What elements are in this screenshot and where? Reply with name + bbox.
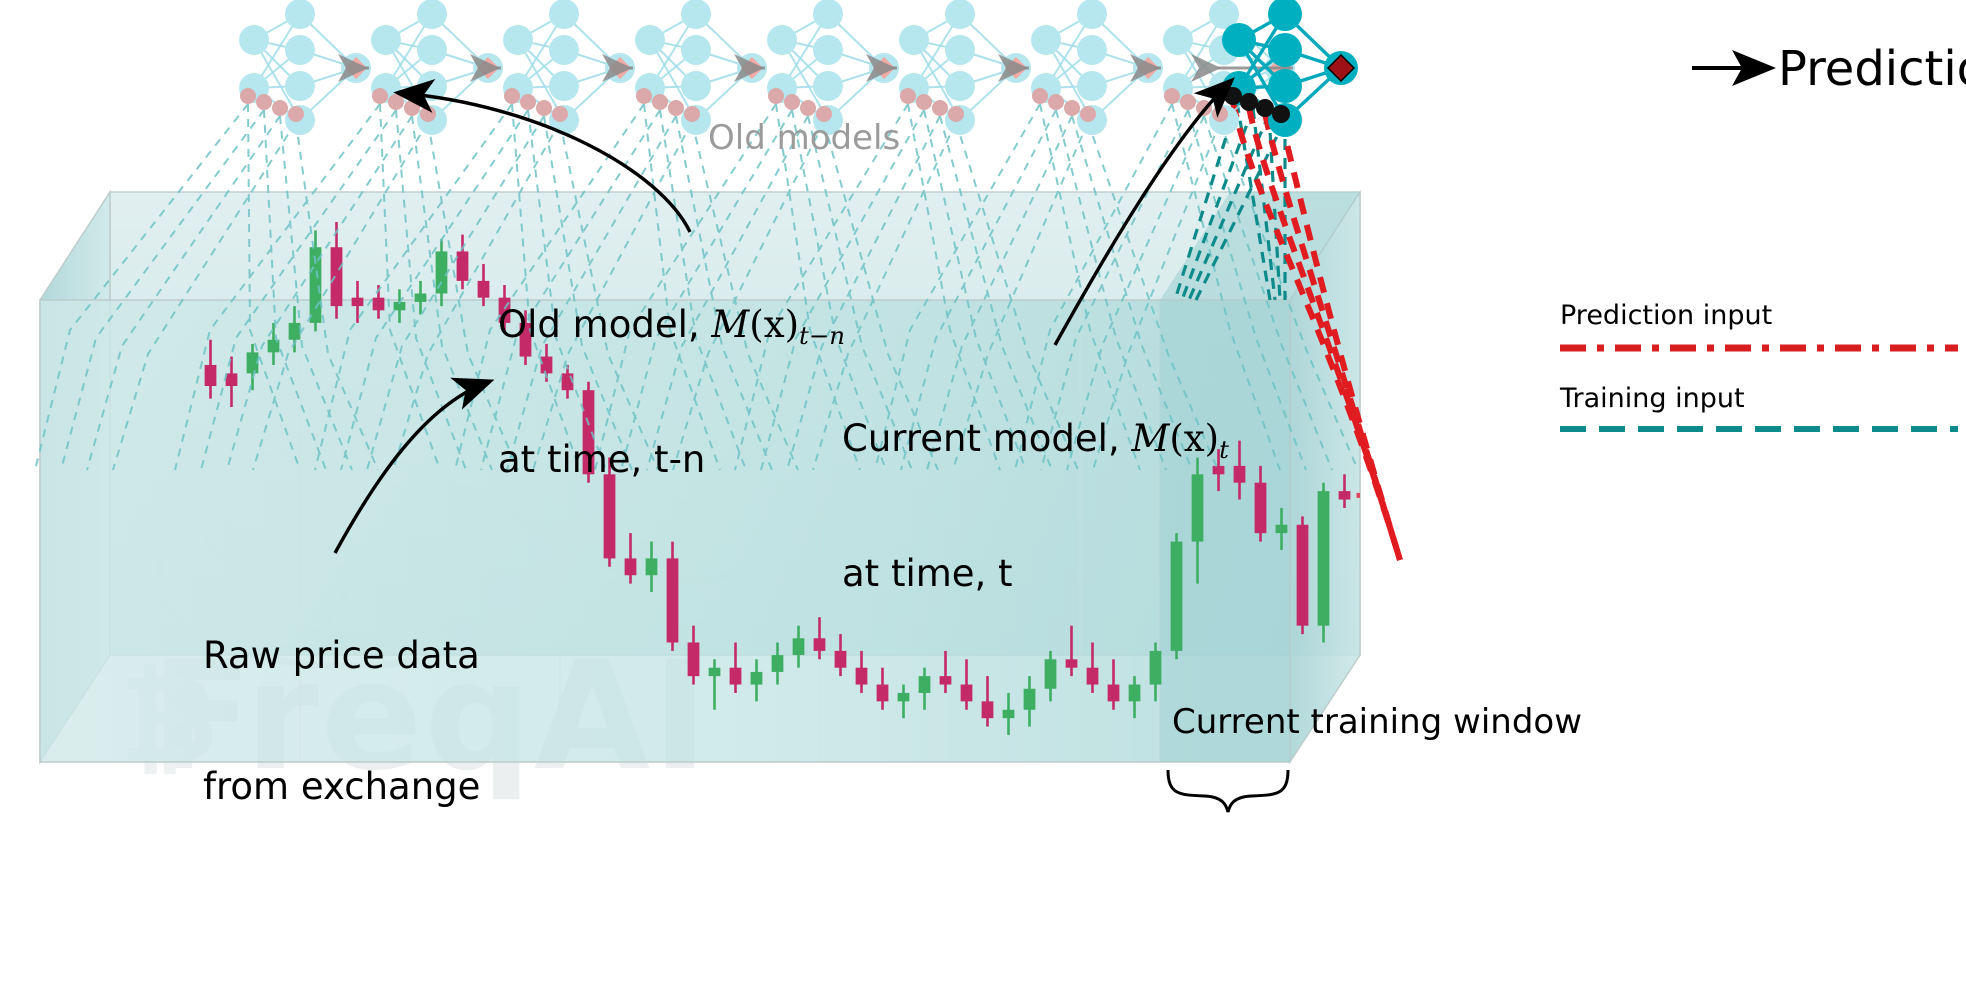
current-model-annotation: Current model, M(x)t at time, t: [842, 330, 1229, 683]
old-model-math-arg: (x): [749, 303, 799, 346]
raw-price-arrow: [335, 382, 488, 553]
old-model-annotation: Old model, M(x)t−n at time, t-n: [498, 216, 845, 569]
old-model-math-M: M: [711, 303, 749, 346]
old-models-label: Old models: [708, 118, 900, 158]
old-model-arrow: [400, 93, 690, 232]
legend: Prediction input Training input: [1560, 300, 1960, 440]
old-model-math-sub: t−n: [799, 321, 845, 350]
current-training-window-label: Current training window: [1172, 702, 1582, 742]
prediction-label: Prediction: [1778, 41, 1966, 97]
old-model-annotation-line2: at time, t-n: [498, 438, 845, 482]
legend-item-1-label: Training input: [1560, 383, 1960, 414]
raw-price-annotation-line1: Raw price data: [203, 634, 480, 678]
current-model-math-arg: (x): [1169, 417, 1219, 460]
training-window-brace: [1168, 770, 1288, 812]
legend-item-1-swatch: [1560, 418, 1960, 440]
raw-price-annotation: Raw price data from exchange: [203, 547, 480, 896]
current-model-annotation-line1: Current model, M(x)t: [842, 417, 1229, 465]
diagram-root: FreqAI ₿: [0, 0, 1966, 981]
legend-item-0-label: Prediction input: [1560, 300, 1960, 331]
current-model-annotation-line2: at time, t: [842, 552, 1229, 596]
raw-price-annotation-line2: from exchange: [203, 765, 480, 809]
current-model-math-sub: t: [1219, 435, 1229, 464]
current-model-arrow: [1055, 82, 1230, 345]
legend-item-0-swatch: [1560, 335, 1960, 361]
old-model-annotation-prefix: Old model,: [498, 303, 711, 346]
current-model-annotation-prefix: Current model,: [842, 417, 1131, 460]
current-model-math-M: M: [1131, 417, 1169, 460]
old-model-annotation-line1: Old model, M(x)t−n: [498, 303, 845, 351]
